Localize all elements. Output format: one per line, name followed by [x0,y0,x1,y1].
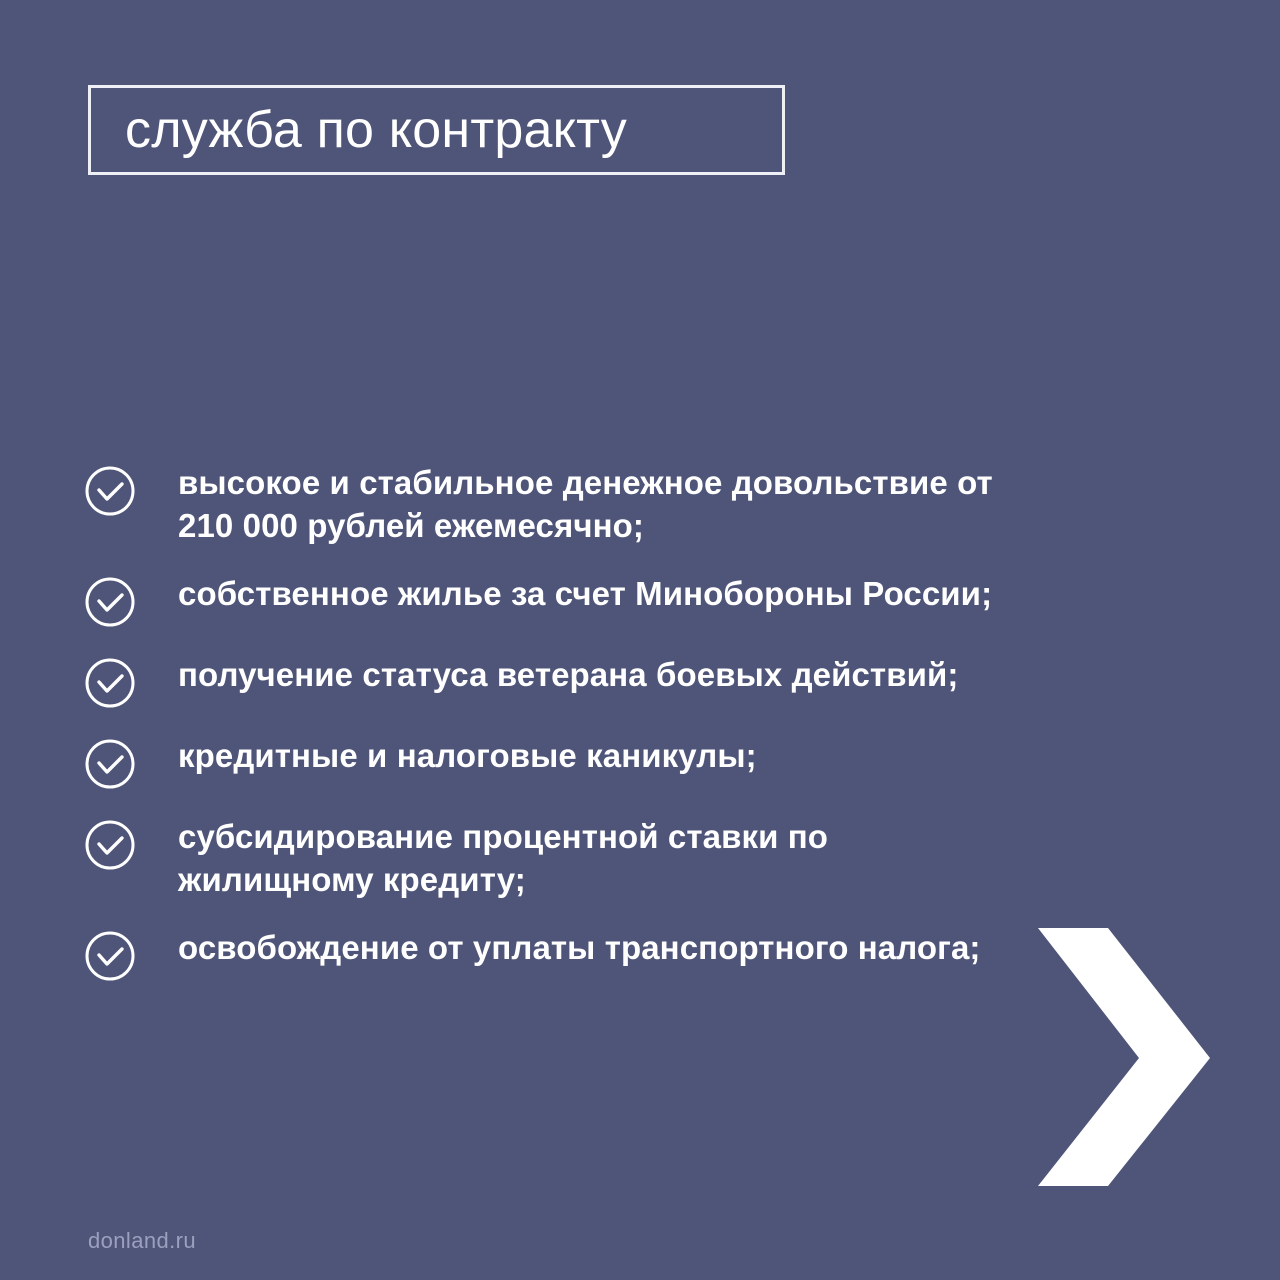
check-circle-icon [84,930,136,982]
check-circle-icon [84,819,136,871]
list-item-label: получение статуса ветерана боевых действ… [178,654,958,697]
list-item: собственное жилье за счет Минобороны Рос… [84,573,1014,628]
check-circle-icon [84,465,136,517]
list-item: субсидирование процентной ставки по жили… [84,816,1014,901]
check-circle-icon [84,576,136,628]
list-item: кредитные и налоговые каникулы; [84,735,1014,790]
list-item: высокое и стабильное денежное довольстви… [84,462,1014,547]
list-item-label: высокое и стабильное денежное довольстви… [178,462,998,547]
list-item-label: освобождение от уплаты транспортного нал… [178,927,981,970]
page-title: служба по контракту [91,104,627,156]
list-item-label: кредитные и налоговые каникулы; [178,735,757,778]
chevron-right-icon[interactable] [1038,928,1210,1186]
poster-canvas: служба по контракту высокое и стабильное… [0,0,1280,1280]
benefits-list: высокое и стабильное денежное довольстви… [84,462,1014,982]
list-item: получение статуса ветерана боевых действ… [84,654,1014,709]
check-circle-icon [84,657,136,709]
list-item: освобождение от уплаты транспортного нал… [84,927,1014,982]
list-item-label: собственное жилье за счет Минобороны Рос… [178,573,992,616]
check-circle-icon [84,738,136,790]
page-title-box: служба по контракту [88,85,785,175]
list-item-label: субсидирование процентной ставки по жили… [178,816,998,901]
footer-website-url: donland.ru [88,1228,196,1254]
